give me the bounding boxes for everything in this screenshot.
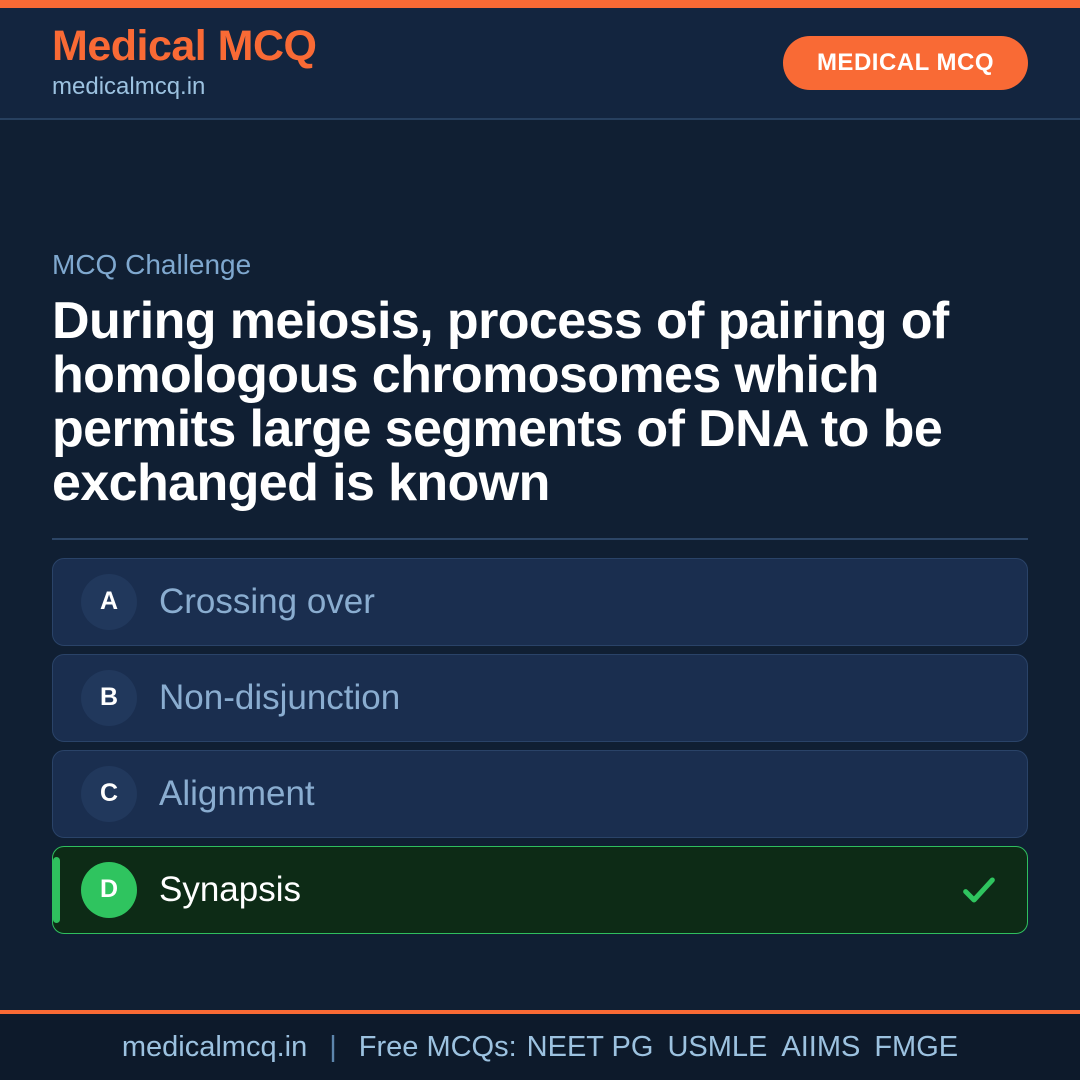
option-label-a: Crossing over [159,583,375,622]
question-text: During meiosis, process of pairing of ho… [52,294,1028,510]
eyebrow-label: MCQ Challenge [52,248,1028,282]
check-icon [959,870,999,910]
option-letter-b: B [81,670,137,726]
option-row-a[interactable]: A Crossing over [52,558,1028,646]
footer-label: Free MCQs: [359,1031,517,1064]
option-row-d[interactable]: D Synapsis [52,846,1028,934]
option-letter-c: C [81,766,137,822]
footer-content: medicalmcq.in | Free MCQs: NEET PG USMLE… [122,1031,958,1064]
brand-title: Medical MCQ [52,24,317,69]
option-row-c[interactable]: C Alignment [52,750,1028,838]
option-label-d: Synapsis [159,871,301,910]
footer: medicalmcq.in | Free MCQs: NEET PG USMLE… [0,1010,1080,1080]
footer-exam-fmge: FMGE [874,1031,958,1064]
brand-subtitle: medicalmcq.in [52,71,317,102]
header: Medical MCQ medicalmcq.in MEDICAL MCQ [0,8,1080,120]
option-label-b: Non-disjunction [159,679,400,718]
top-accent-bar [0,0,1080,8]
footer-exam-usmle: USMLE [667,1031,767,1064]
footer-exam-aiims: AIIMS [781,1031,860,1064]
options-list: A Crossing over B Non-disjunction C Alig… [52,558,1028,934]
option-letter-d: D [81,862,137,918]
footer-exam-neetpg: NEET PG [527,1031,654,1064]
header-badge: MEDICAL MCQ [783,36,1028,90]
option-row-b[interactable]: B Non-disjunction [52,654,1028,742]
main-content: MCQ Challenge During meiosis, process of… [0,120,1080,1010]
question-divider [52,538,1028,540]
brand: Medical MCQ medicalmcq.in [52,24,317,103]
footer-site: medicalmcq.in [122,1031,307,1064]
footer-separator: | [329,1031,337,1064]
option-letter-a: A [81,574,137,630]
mcq-card: Medical MCQ medicalmcq.in MEDICAL MCQ MC… [0,0,1080,1080]
option-label-c: Alignment [159,775,315,814]
